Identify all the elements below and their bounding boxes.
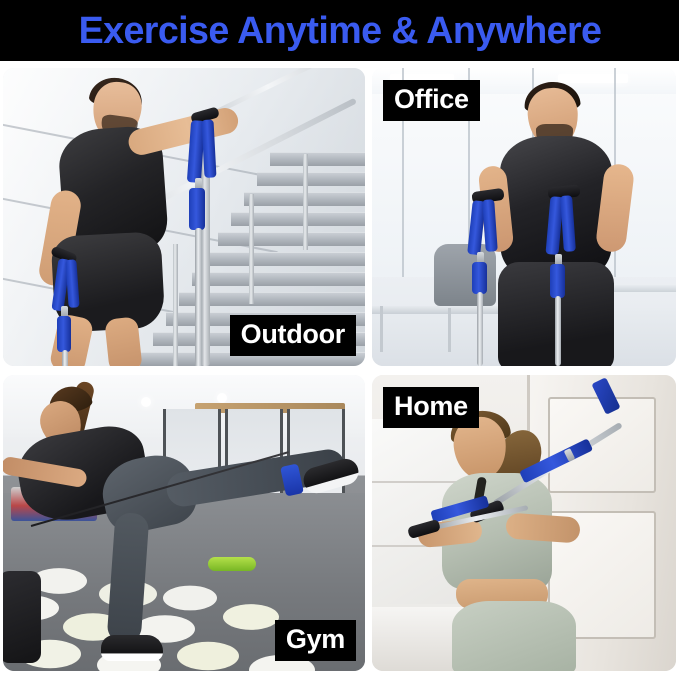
leg (49, 313, 95, 366)
desk-leg (380, 306, 383, 352)
band-tube (62, 350, 68, 366)
shoe (101, 635, 163, 661)
rail-post (303, 154, 308, 250)
band-strap (57, 316, 71, 352)
scene-office-interior: Office (372, 68, 676, 366)
right-arm (505, 512, 581, 543)
header-banner: Exercise Anytime & Anywhere (0, 0, 679, 61)
caption-office: Office (383, 80, 480, 121)
caption-outdoor: Outdoor (230, 315, 356, 356)
panel-office: Office (372, 68, 676, 366)
stair-step (218, 232, 365, 246)
caption-home: Home (383, 387, 479, 428)
leggings (452, 601, 576, 671)
band-tube (555, 296, 561, 366)
stair-step (270, 152, 365, 166)
person-home (412, 411, 642, 671)
band-tube (477, 292, 483, 366)
scene-gym-interior: Gym (3, 375, 365, 671)
scene-home-interior: Home (372, 375, 676, 671)
band-tube (195, 228, 202, 366)
scene-outdoor-stairs: Outdoor (3, 68, 365, 366)
panel-outdoor: Outdoor (3, 68, 365, 366)
panel-grid: Outdoor (0, 67, 679, 674)
stair-step (257, 172, 365, 186)
band-strap (550, 264, 565, 298)
desk-leg (448, 308, 451, 352)
rail-post (249, 194, 254, 304)
band-strap (472, 262, 487, 294)
standing-leg (107, 512, 150, 644)
page-title: Exercise Anytime & Anywhere (78, 12, 601, 50)
band-strap (189, 188, 205, 230)
panel-gym: Gym (3, 375, 365, 671)
leg (104, 316, 142, 366)
raised-arm (126, 105, 241, 157)
panel-home: Home (372, 375, 676, 671)
product-feature-poster: Exercise Anytime & Anywhere (0, 0, 679, 674)
caption-gym: Gym (275, 620, 356, 661)
